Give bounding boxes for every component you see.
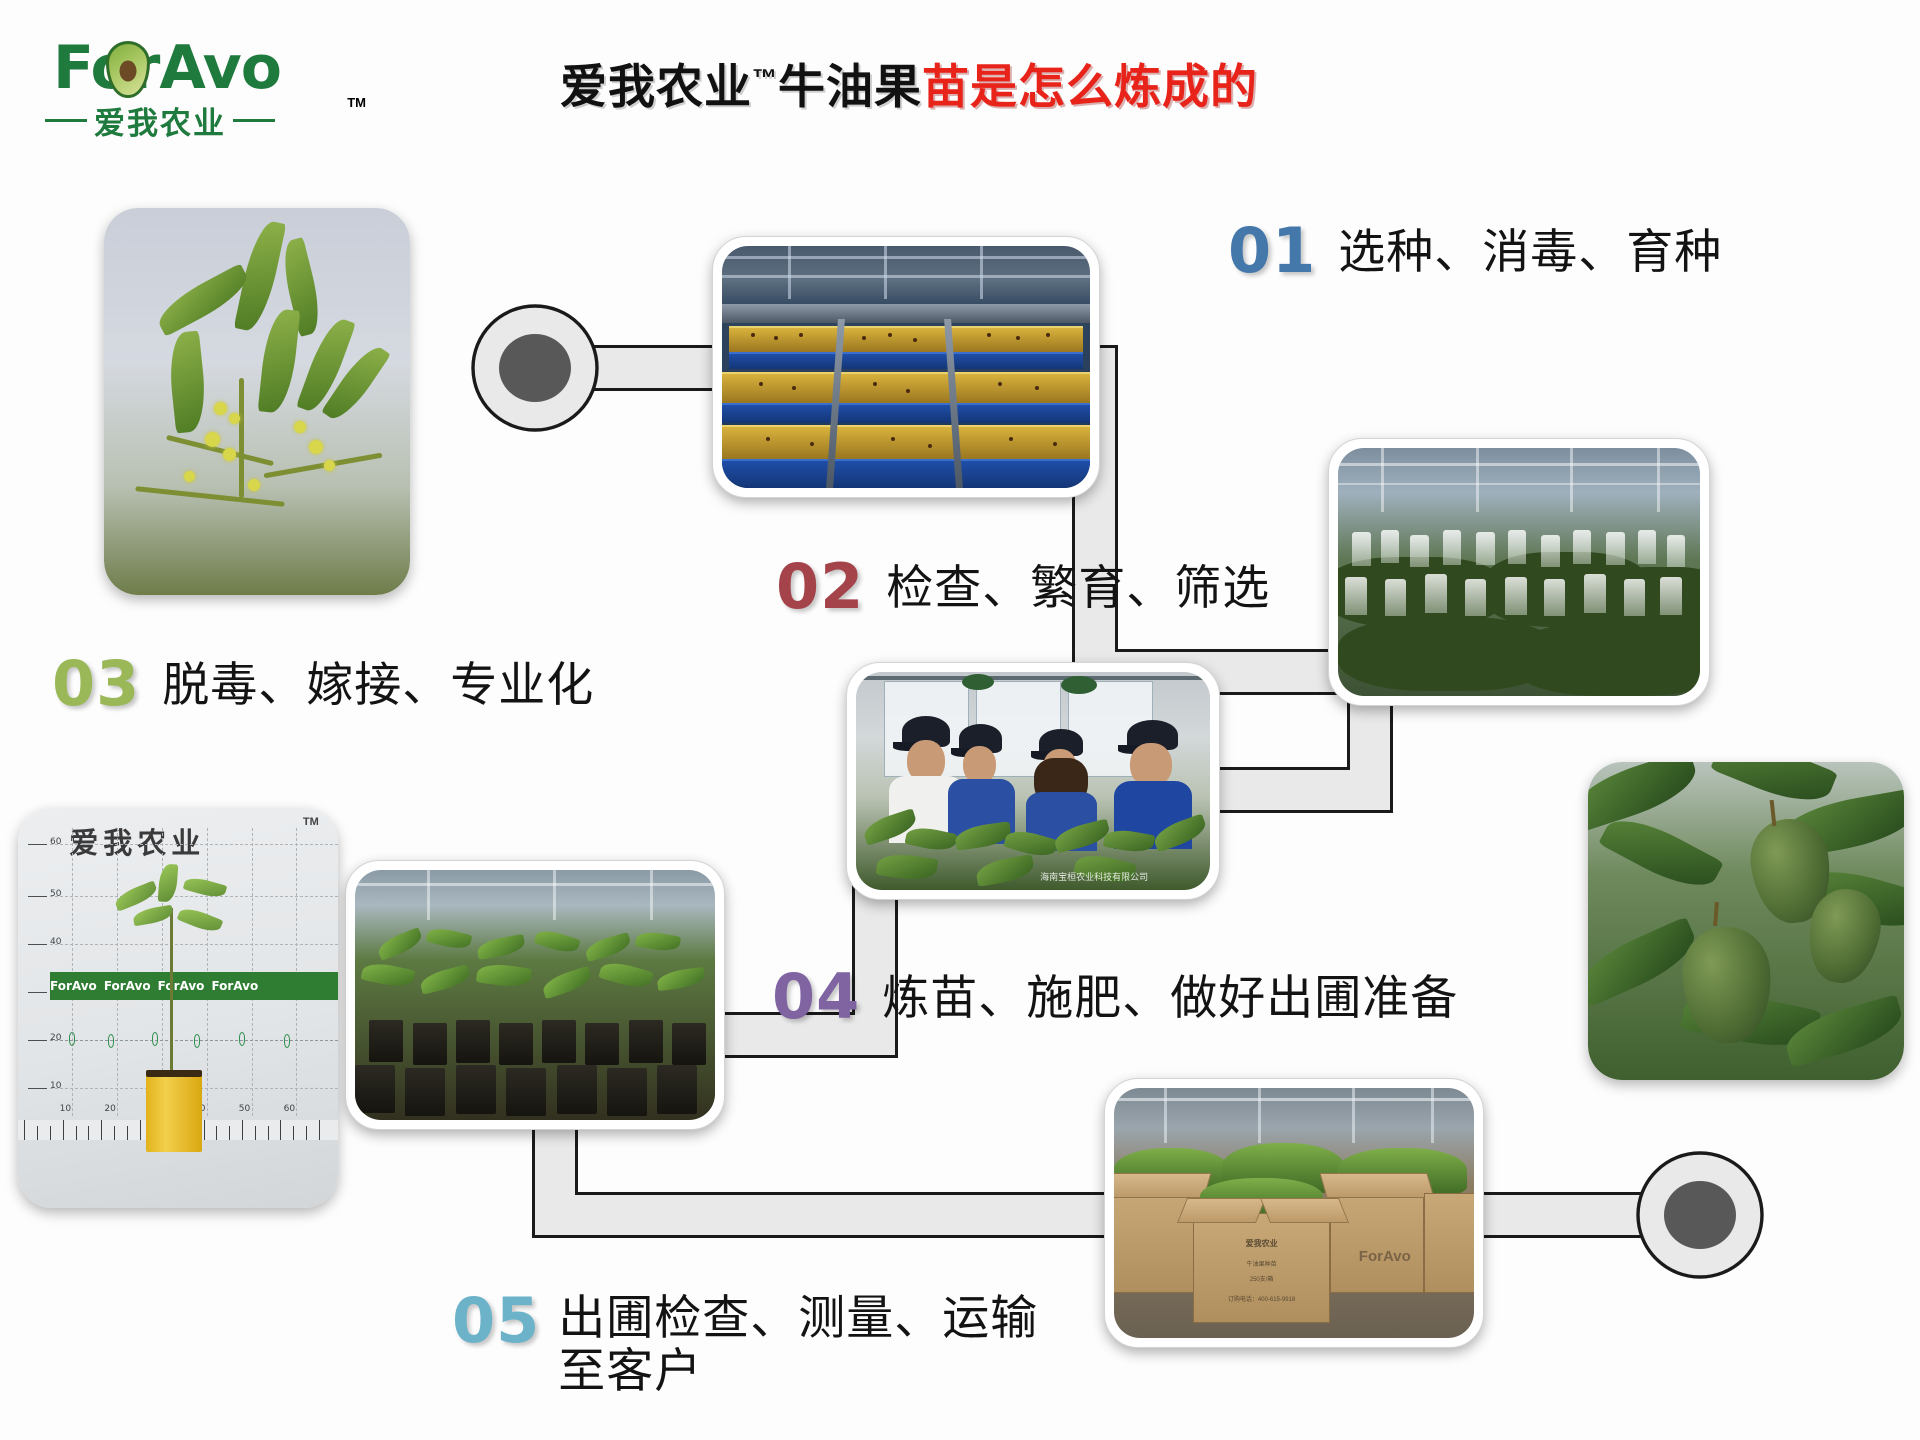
step-label-01: 01 选种、消毒、育种 (1228, 222, 1722, 281)
flow-start-node (473, 306, 597, 430)
step-label-05: 05 出圃检查、测量、运输 至客户 (452, 1292, 1038, 1397)
logo-text: ForAvo (53, 33, 281, 103)
box-line2: 牛油果种苗 (1194, 1259, 1329, 1268)
title-black-part2: 牛油果 (778, 60, 922, 113)
box-side-logo: ForAvo (1359, 1248, 1411, 1265)
photo-measurement-board: 爱我农业 TM 60 50 40 30 20 10 (18, 808, 338, 1208)
photo-avocado-fruit (1588, 762, 1904, 1080)
ruler-board-tm: TM (303, 816, 319, 828)
step-label-02: 02 检查、繁育、筛选 (776, 558, 1270, 617)
box-line3: 250支/箱 (1194, 1274, 1329, 1283)
title-red-part: 苗是怎么炼成的 (922, 60, 1258, 113)
box-brand: 爱我农业 (1194, 1238, 1329, 1249)
step-text-05-line2: 至客户 (558, 1344, 702, 1397)
step-number-05: 05 (452, 1292, 540, 1351)
photo-potted-seedlings (345, 860, 725, 1130)
photo-greenhouse-bags (1328, 438, 1710, 706)
photo-shipping-boxes: 爱我农业 牛油果种苗 250支/箱 订购电话：400-615-9918 ForA… (1104, 1078, 1484, 1348)
step-text-03: 脱毒、嫁接、专业化 (162, 655, 594, 712)
page-title: 爱我农业™牛油果苗是怎么炼成的 (560, 48, 1258, 117)
shipping-box-front: 爱我农业 牛油果种苗 250支/箱 订购电话：400-615-9918 (1193, 1213, 1330, 1323)
brand-logo: ForAvo 爱我农业 TM (45, 35, 345, 155)
logo-chinese: 爱我农业 (94, 98, 226, 143)
inspection-watermark: 海南宝桓农业科技有限公司 (1040, 870, 1148, 883)
logo-chinese-row: 爱我农业 TM (45, 99, 345, 141)
step-text-05: 出圃检查、测量、运输 至客户 (558, 1292, 1038, 1397)
step-label-03: 03 脱毒、嫁接、专业化 (52, 655, 594, 714)
step-text-04: 炼苗、施肥、做好出圃准备 (882, 968, 1458, 1025)
step-number-03: 03 (52, 655, 140, 714)
ruler-board-title: 爱我农业 (69, 820, 205, 862)
ruler-brand-band: ForAvoForAvoForAvoForAvo (50, 972, 338, 1000)
logo-wordmark: ForAvo (45, 35, 345, 103)
step-number-04: 04 (772, 968, 860, 1027)
step-text-02: 检查、繁育、筛选 (886, 558, 1270, 615)
photo-seed-trays (712, 236, 1100, 498)
box-phone: 订购电话：400-615-9918 (1194, 1294, 1329, 1303)
step-label-04: 04 炼苗、施肥、做好出圃准备 (772, 968, 1458, 1027)
logo-rule-right (233, 119, 275, 122)
title-tm: ™ (752, 64, 778, 92)
step-number-01: 01 (1228, 222, 1316, 281)
logo-rule-left (45, 119, 87, 122)
title-black-part: 爱我农业 (560, 60, 752, 113)
flow-end-node (1638, 1153, 1762, 1277)
step-number-02: 02 (776, 558, 864, 617)
step-text-01: 选种、消毒、育种 (1338, 222, 1722, 279)
photo-inspection-team: 海南宝桓农业科技有限公司 (846, 662, 1220, 900)
logo-tm: TM (347, 95, 366, 110)
photo-avocado-flowers (104, 208, 410, 595)
step-text-05-line1: 出圃检查、测量、运输 (558, 1291, 1038, 1344)
